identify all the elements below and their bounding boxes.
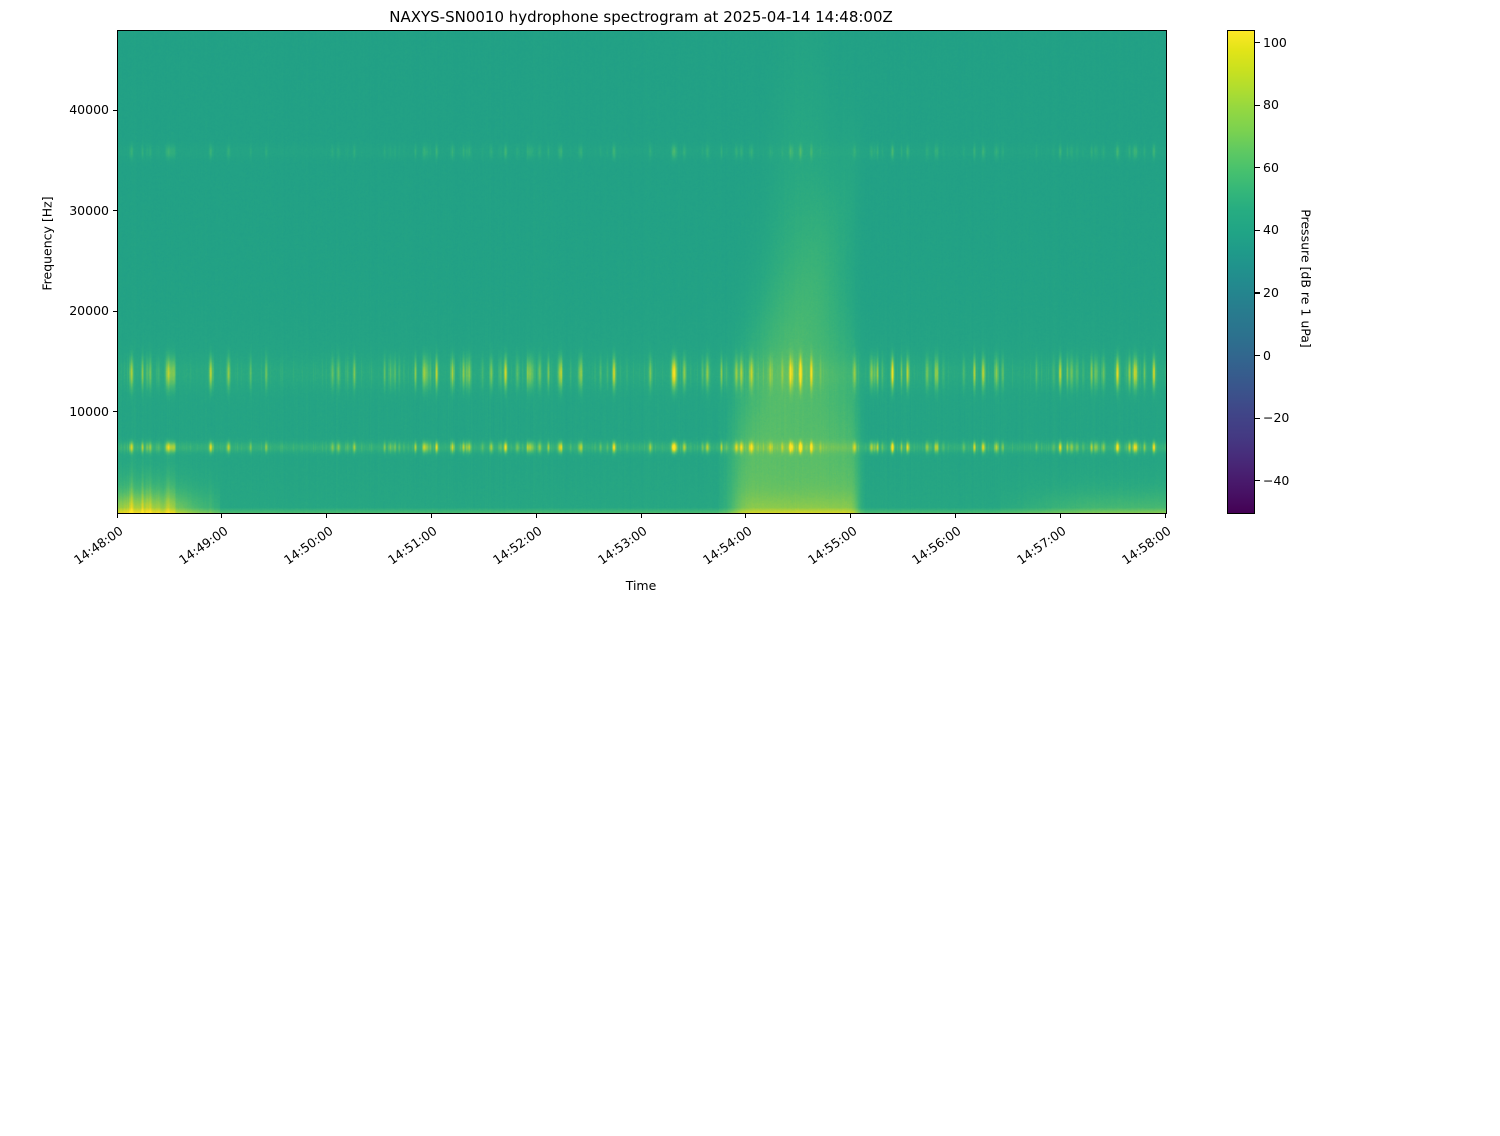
colorbar-tick-label: 20: [1263, 285, 1279, 300]
page-title: NAXYS-SN0010 hydrophone spectrogram at 2…: [117, 8, 1165, 26]
spectrogram-figure: NAXYS-SN0010 hydrophone spectrogram at 2…: [0, 0, 1500, 600]
x-tick-mark: [117, 513, 118, 518]
colorbar-tick-mark: [1255, 418, 1260, 419]
colorbar-tick-label: 60: [1263, 160, 1279, 175]
spectrogram-image: [118, 31, 1166, 513]
x-tick-mark: [955, 513, 956, 518]
colorbar-tick-mark: [1255, 230, 1260, 231]
colorbar-tick-label: 100: [1263, 35, 1287, 50]
colorbar-tick-mark: [1255, 292, 1260, 293]
y-tick-label: 30000: [69, 203, 109, 218]
x-tick-mark: [1165, 513, 1166, 518]
colorbar-tick-mark: [1255, 167, 1260, 168]
colorbar-tick-mark: [1255, 105, 1260, 106]
colorbar-tick-label: 0: [1263, 348, 1271, 363]
x-tick-mark: [536, 513, 537, 518]
x-axis-label: Time: [117, 578, 1165, 593]
x-tick-mark: [641, 513, 642, 518]
y-tick-mark: [113, 110, 118, 111]
colorbar-tick-label: 80: [1263, 97, 1279, 112]
y-tick-label: 40000: [69, 102, 109, 117]
colorbar-tick-mark: [1255, 42, 1260, 43]
y-tick-label: 20000: [69, 303, 109, 318]
colorbar-tick-mark: [1255, 480, 1260, 481]
colorbar-tick-label: −20: [1263, 410, 1289, 425]
colorbar-tick-label: 40: [1263, 222, 1279, 237]
x-tick-label: 14:52:00: [0, 523, 545, 1136]
x-tick-mark: [431, 513, 432, 518]
colorbar[interactable]: [1227, 30, 1255, 514]
x-tick-label: 14:50:00: [0, 523, 335, 1136]
x-tick-mark: [221, 513, 222, 518]
y-tick-mark: [113, 210, 118, 211]
x-tick-mark: [1060, 513, 1061, 518]
y-tick-label: 10000: [69, 404, 109, 419]
colorbar-tick-label: −40: [1263, 473, 1289, 488]
colorbar-label: Pressure [dB re 1 uPa]: [1299, 189, 1314, 369]
colorbar-gradient: [1228, 31, 1254, 513]
y-axis-label: Frequency [Hz]: [40, 154, 55, 334]
spectrogram-plot-area[interactable]: [117, 30, 1167, 514]
y-tick-mark: [113, 311, 118, 312]
colorbar-tick-mark: [1255, 355, 1260, 356]
x-tick-mark: [745, 513, 746, 518]
y-tick-mark: [113, 411, 118, 412]
x-tick-mark: [850, 513, 851, 518]
x-tick-mark: [326, 513, 327, 518]
